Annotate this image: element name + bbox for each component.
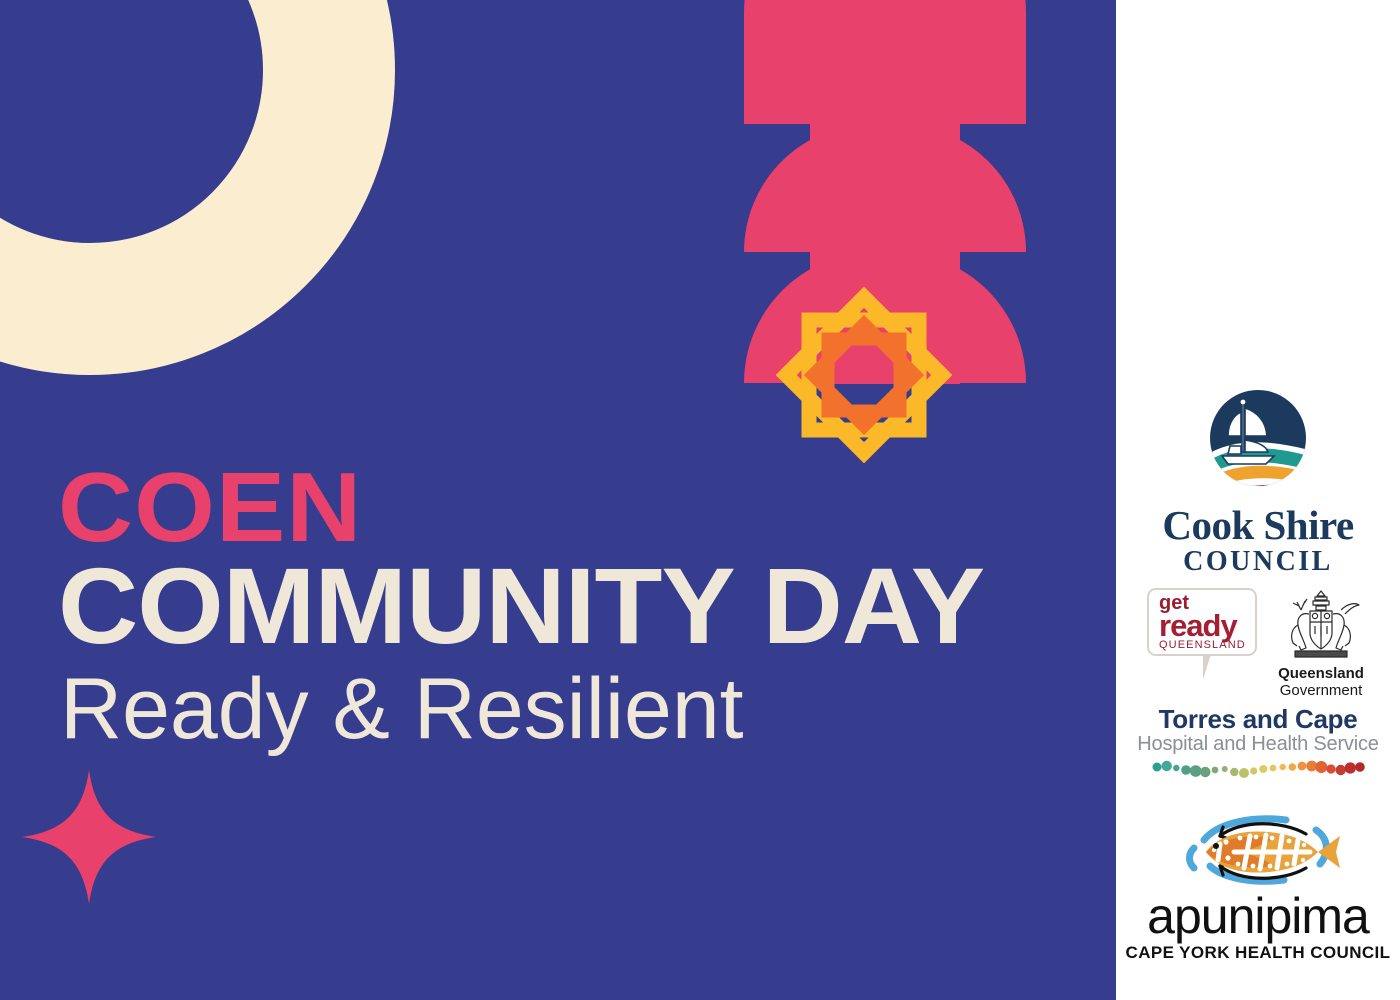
page-title-community-day: COMMUNITY DAY xyxy=(58,554,1088,658)
torres-cape-dot-strip xyxy=(1116,758,1400,785)
logo-get-ready-queensland: get ready QUEENSLAND xyxy=(1147,588,1257,656)
eight-point-star-icon xyxy=(776,287,952,463)
cook-shire-ship-icon xyxy=(1198,386,1318,496)
pink-sparkle-icon xyxy=(20,768,158,906)
poster-canvas: COEN COMMUNITY DAY Ready & Resilient xyxy=(0,0,1116,1000)
torres-cape-line1: Torres and Cape xyxy=(1116,706,1400,733)
torres-cape-line2: Hospital and Health Service xyxy=(1116,733,1400,756)
logo-cook-shire-council: Cook Shire COUNCIL xyxy=(1116,386,1400,576)
get-ready-line3: QUEENSLAND xyxy=(1159,639,1255,651)
logo-row-getready-qldgov: get ready QUEENSLAND xyxy=(1116,588,1400,699)
sponsor-logo-rail: Cook Shire COUNCIL get ready QUEENSLAND xyxy=(1116,0,1400,1000)
cream-arc-decoration xyxy=(0,0,395,375)
queensland-coat-of-arms-icon xyxy=(1273,588,1369,664)
logo-queensland-government: Queensland Government xyxy=(1273,588,1369,699)
get-ready-line2: ready xyxy=(1159,613,1255,639)
logo-torres-and-cape: Torres and Cape Hospital and Health Serv… xyxy=(1116,706,1400,785)
qld-government-line2: Government xyxy=(1273,683,1369,700)
logo-apunipima: apunipima CAPE YORK HEALTH COUNCIL xyxy=(1116,812,1400,962)
apunipima-name: apunipima xyxy=(1116,893,1400,941)
cook-shire-name: Cook Shire xyxy=(1116,505,1400,546)
cook-shire-council-label: COUNCIL xyxy=(1116,548,1400,576)
qld-government-line1: Queensland xyxy=(1273,666,1369,683)
pink-dome-2 xyxy=(744,124,1026,252)
pink-dome-1 xyxy=(744,0,1026,124)
headline-block: COEN COMMUNITY DAY Ready & Resilient xyxy=(58,462,1058,754)
apunipima-subtitle: CAPE YORK HEALTH COUNCIL xyxy=(1116,944,1400,963)
page-subtitle: Ready & Resilient xyxy=(60,666,1058,754)
poster-root: COEN COMMUNITY DAY Ready & Resilient xyxy=(0,0,1400,1000)
page-title-coen: COEN xyxy=(58,462,1116,552)
